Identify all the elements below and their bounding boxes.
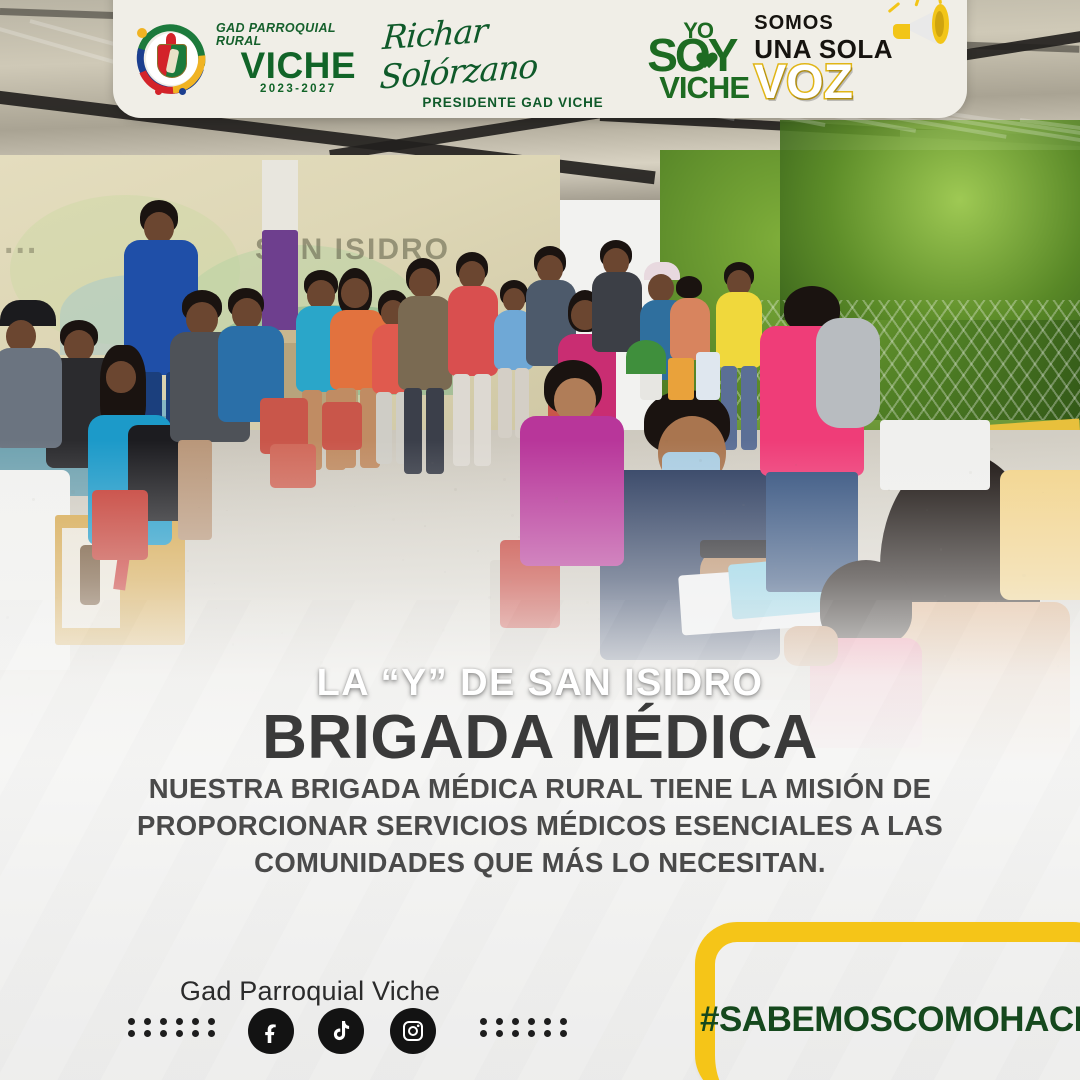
tiktok-icon[interactable] (318, 1008, 364, 1054)
coat-of-arms-crest-icon (135, 22, 207, 96)
president-signature: Richar Solórzano (378, 0, 648, 96)
voz-line1: SOMOS (754, 12, 833, 35)
page-title: BRIGADA MÉDICA (0, 702, 1080, 773)
heart-icon (693, 46, 712, 65)
logo-gad-name: VICHE (240, 48, 356, 83)
logo-gad-period: 2023-2027 (260, 84, 337, 96)
logo-una-sola-voz[interactable]: SOMOS UNA SOLA VOZ (754, 12, 945, 105)
hoodie (816, 318, 880, 428)
header-logos-row: GAD PARROQUIAL RURAL VICHE 2023-2027 Ric… (113, 0, 967, 118)
page-description: NUESTRA BRIGADA MÉDICA RURAL TIENE LA MI… (120, 770, 960, 881)
yosoy-line3: VICHE (659, 70, 749, 106)
logo-yo-soy-viche[interactable]: YO SOY VICHE (645, 18, 754, 100)
president-role: PRESIDENTE GAD VICHE (422, 95, 603, 110)
footer-brand: Gad Parroquial Viche (0, 976, 620, 1007)
poster-root: SAN ISIDRO ... (0, 0, 1080, 1080)
voz-line3: VOZ (754, 61, 853, 105)
instagram-icon[interactable] (390, 1008, 436, 1054)
page-kicker: LA “Y” DE SAN ISIDRO (0, 662, 1080, 705)
supply-box (668, 358, 694, 400)
logo-president-signature[interactable]: Richar Solórzano PRESIDENTE GAD VICHE (381, 9, 646, 110)
logo-gad-toptext: GAD PARROQUIAL RURAL (216, 22, 381, 47)
plant (626, 340, 666, 374)
hashtag-text: #SABEMOSCOMOHACERLO (700, 1000, 1080, 1040)
supply-bottle (696, 352, 720, 400)
social-links (0, 1008, 620, 1062)
logo-gad-parroquial-viche[interactable]: GAD PARROQUIAL RURAL VICHE 2023-2027 (135, 22, 381, 96)
facebook-icon[interactable] (248, 1008, 294, 1054)
megaphone-icon (889, 4, 951, 56)
